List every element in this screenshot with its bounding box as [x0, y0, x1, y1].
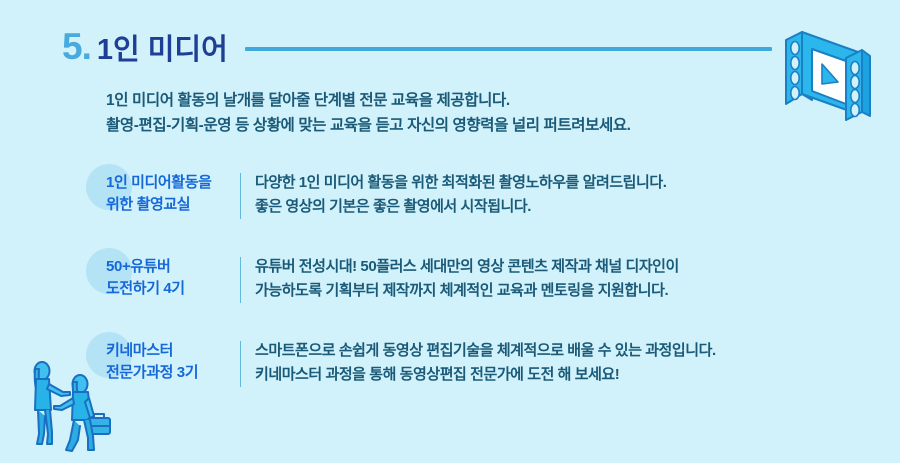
program-title-line-1: 키네마스터	[106, 340, 240, 362]
program-title-line-1: 1인 미디어활동을	[106, 172, 240, 194]
program-title: 50+유튜버 도전하기 4기	[88, 256, 240, 300]
vertical-divider	[240, 173, 241, 219]
intro-line-1: 1인 미디어 활동의 날개를 달아줄 단계별 전문 교육을 제공합니다.	[106, 88, 631, 113]
list-item[interactable]: 1인 미디어활동을 위한 촬영교실 다양한 1인 미디어 활동을 위한 최적화된…	[88, 168, 848, 252]
vertical-divider	[240, 257, 241, 303]
program-title: 키네마스터 전문가과정 3기	[88, 340, 240, 384]
page-title: 1인 미디어	[97, 36, 228, 65]
list-item[interactable]: 50+유튜버 도전하기 4기 유튜버 전성시대! 50플러스 세대만의 영상 콘…	[88, 252, 848, 336]
intro-paragraph: 1인 미디어 활동의 날개를 달아줄 단계별 전문 교육을 제공합니다. 촬영-…	[106, 88, 631, 138]
program-description-line-1: 유튜버 전성시대! 50플러스 세대만의 영상 콘텐츠 제작과 채널 디자인이	[255, 255, 848, 279]
intro-line-2: 촬영-편집-기획-운영 등 상황에 맞는 교육을 듣고 자신의 영향력을 널리 …	[106, 113, 631, 138]
list-item[interactable]: 키네마스터 전문가과정 3기 스마트폰으로 손쉽게 동영상 편집기술을 체계적으…	[88, 336, 848, 420]
program-label-group: 1인 미디어활동을 위한 촬영교실	[88, 168, 240, 216]
program-description-line-2: 가능하도록 기획부터 제작까지 체계적인 교육과 멘토링을 지원합니다.	[255, 279, 848, 303]
program-list: 1인 미디어활동을 위한 촬영교실 다양한 1인 미디어 활동을 위한 최적화된…	[88, 168, 848, 420]
program-label-group: 50+유튜버 도전하기 4기	[88, 252, 240, 300]
program-description-line-2: 좋은 영상의 기본은 좋은 촬영에서 시작됩니다.	[255, 195, 848, 219]
promo-panel: 5. 1인 미디어 1인 미디어 활동의 날개를 달아줄 단계별 전문 교육을 …	[0, 0, 900, 458]
program-title-line-2: 도전하기 4기	[106, 278, 240, 300]
header-divider-rule	[245, 47, 772, 51]
program-description: 유튜버 전성시대! 50플러스 세대만의 영상 콘텐츠 제작과 채널 디자인이 …	[255, 252, 848, 303]
program-title: 1인 미디어활동을 위한 촬영교실	[88, 172, 240, 216]
program-title-line-2: 위한 촬영교실	[106, 194, 240, 216]
program-description-line-2: 키네마스터 과정을 통해 동영상편집 전문가에 도전 해 보세요!	[255, 363, 848, 387]
film-strip-play-icon	[772, 18, 882, 124]
man-figure	[54, 375, 110, 451]
program-description: 다양한 1인 미디어 활동을 위한 최적화된 촬영노하우를 알려드립니다. 좋은…	[255, 168, 848, 219]
program-title-line-1: 50+유튜버	[106, 256, 240, 278]
program-description-line-1: 다양한 1인 미디어 활동을 위한 최적화된 촬영노하우를 알려드립니다.	[255, 171, 848, 195]
vertical-divider	[240, 341, 241, 387]
section-header: 5. 1인 미디어	[62, 28, 772, 65]
section-number: 5.	[62, 28, 91, 65]
program-description-line-1: 스마트폰으로 손쉽게 동영상 편집기술을 체계적으로 배울 수 있는 과정입니다…	[255, 339, 848, 363]
program-description: 스마트폰으로 손쉽게 동영상 편집기술을 체계적으로 배울 수 있는 과정입니다…	[255, 336, 848, 387]
program-label-group: 키네마스터 전문가과정 3기	[88, 336, 240, 384]
program-title-line-2: 전문가과정 3기	[106, 362, 240, 384]
